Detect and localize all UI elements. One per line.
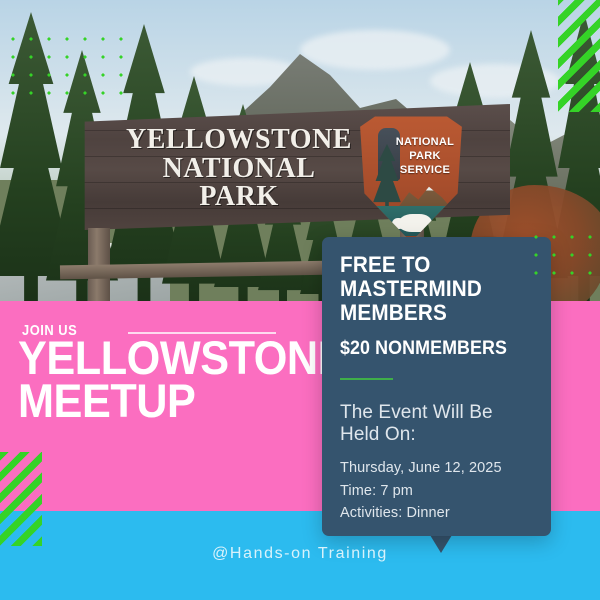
- event-heading: The Event Will Be Held On:: [340, 402, 533, 446]
- dot-grid-decoration: [525, 226, 599, 280]
- pricing-line-1: FREE TO: [340, 253, 521, 277]
- pricing-line-3: MEMBERS: [340, 301, 521, 325]
- headline-line-1: YELLOWSTONE: [18, 336, 322, 379]
- event-poster: YELLOWSTONE NATIONAL PARK NATIONAL PARK …: [0, 0, 600, 600]
- nonmember-price: $20 NONMEMBERS: [340, 338, 533, 360]
- sign-text-line-2: NATIONAL: [98, 155, 380, 184]
- nps-emblem-text: NATIONAL PARK SERVICE: [392, 136, 458, 177]
- event-heading-line-1: The Event Will Be: [340, 402, 533, 424]
- headline-line-2: MEETUP: [18, 379, 322, 422]
- sign-text-line-1: YELLOWSTONE: [98, 126, 380, 155]
- event-details: Thursday, June 12, 2025 Time: 7 pm Activ…: [340, 457, 533, 526]
- page-title: YELLOWSTONE MEETUP: [18, 336, 348, 422]
- diagonal-stripes-decoration: [0, 452, 42, 546]
- pricing-line-2: MASTERMIND: [340, 277, 521, 301]
- sign-text-line-3: PARK: [98, 183, 380, 212]
- nps-text-line-1: NATIONAL: [392, 136, 458, 150]
- nps-text-line-3: SERVICE: [392, 164, 458, 178]
- event-heading-line-2: Held On:: [340, 424, 533, 446]
- event-info-card: FREE TO MASTERMIND MEMBERS $20 NONMEMBER…: [322, 237, 551, 536]
- sign-text: YELLOWSTONE NATIONAL PARK: [98, 126, 380, 212]
- nps-text-line-2: PARK: [392, 150, 458, 164]
- event-time: Time: 7 pm: [340, 480, 533, 503]
- social-handle: @Hands-on Training: [0, 545, 600, 563]
- card-divider: [340, 378, 393, 380]
- dot-grid-decoration: [2, 28, 126, 100]
- event-date: Thursday, June 12, 2025: [340, 457, 533, 480]
- event-activities: Activities: Dinner: [340, 502, 533, 525]
- diagonal-stripes-decoration: [558, 0, 600, 112]
- pricing-heading: FREE TO MASTERMIND MEMBERS: [340, 253, 533, 326]
- nonmember-price-text: $20 NONMEMBERS: [340, 338, 521, 360]
